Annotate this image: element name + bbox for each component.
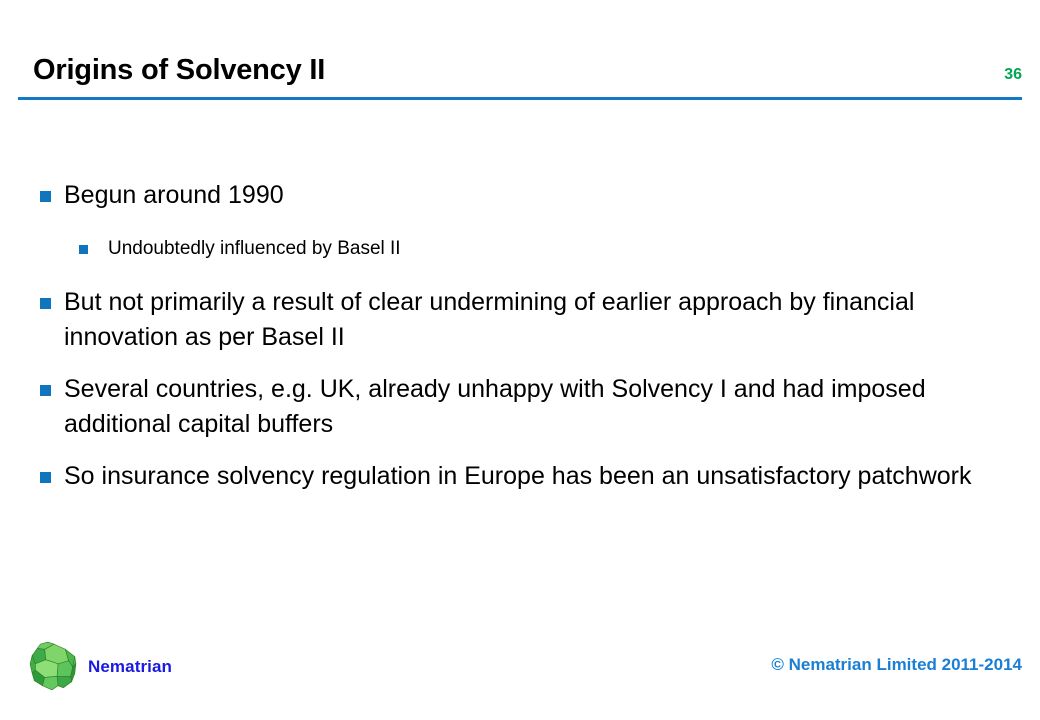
footer-logo: Nematrian [28,641,172,693]
bullet-marker-icon [40,298,51,309]
list-item: Several countries, e.g. UK, already unha… [0,372,1040,442]
bullet-marker-icon [40,472,51,483]
list-item: But not primarily a result of clear unde… [0,285,1040,355]
list-item: Begun around 1990 [0,178,1040,213]
list-item: Undoubtedly influenced by Basel II [0,235,1040,263]
slide: Origins of Solvency II 36 Begun around 1… [0,0,1040,720]
title-divider [18,97,1022,100]
bullet-list: Begun around 1990 Undoubtedly influenced… [0,178,1040,511]
list-item-label: Begun around 1990 [64,178,995,213]
list-item: So insurance solvency regulation in Euro… [0,459,1040,494]
bullet-marker-icon [79,245,88,254]
list-item-label: Several countries, e.g. UK, already unha… [64,372,995,442]
copyright-notice: © Nematrian Limited 2011-2014 [771,655,1022,675]
page-number: 36 [1004,66,1022,84]
bullet-marker-icon [40,385,51,396]
list-item-label: Undoubtedly influenced by Basel II [108,235,995,263]
logo-wordmark: Nematrian [88,657,172,677]
list-item-label: But not primarily a result of clear unde… [64,285,995,355]
list-item-label: So insurance solvency regulation in Euro… [64,459,995,494]
page-title: Origins of Solvency II [33,54,325,87]
nematrian-polyhedron-logo-icon [28,641,80,693]
bullet-marker-icon [40,191,51,202]
